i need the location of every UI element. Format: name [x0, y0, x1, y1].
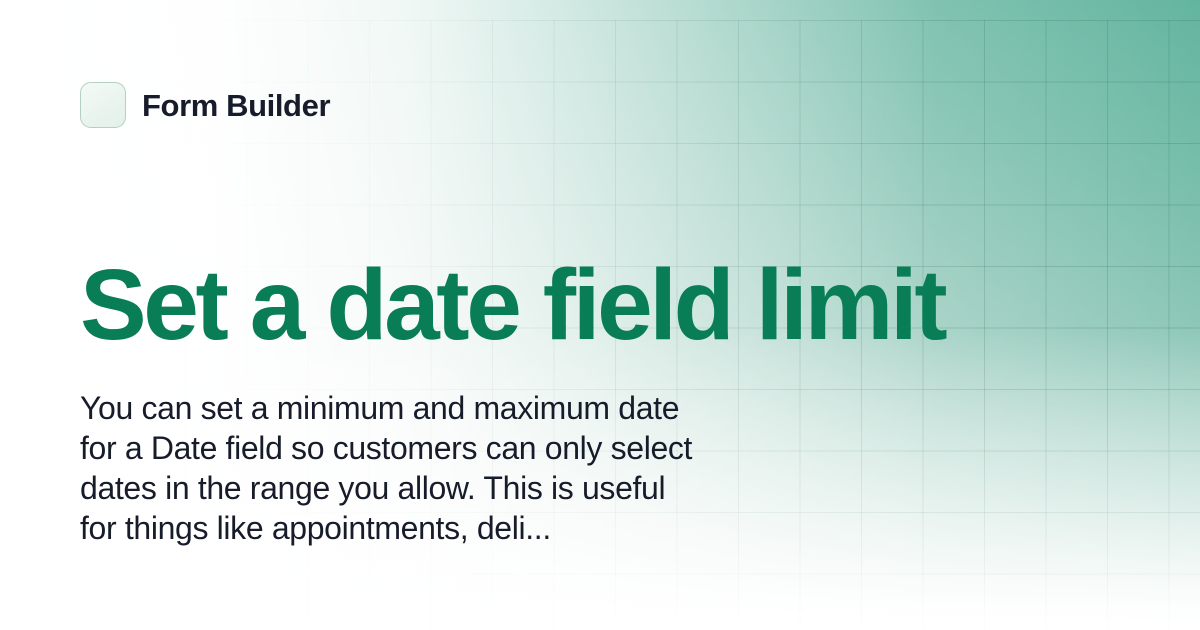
brand-row: Form Builder — [80, 82, 330, 128]
page-description: You can set a minimum and maximum date f… — [80, 388, 870, 548]
page-title: Set a date field limit — [80, 255, 1120, 355]
form-builder-logo-icon — [80, 82, 126, 128]
card-content: Form Builder Set a date field limit You … — [0, 0, 1200, 630]
og-preview-card: Form Builder Set a date field limit You … — [0, 0, 1200, 630]
brand-name-label: Form Builder — [142, 90, 330, 121]
